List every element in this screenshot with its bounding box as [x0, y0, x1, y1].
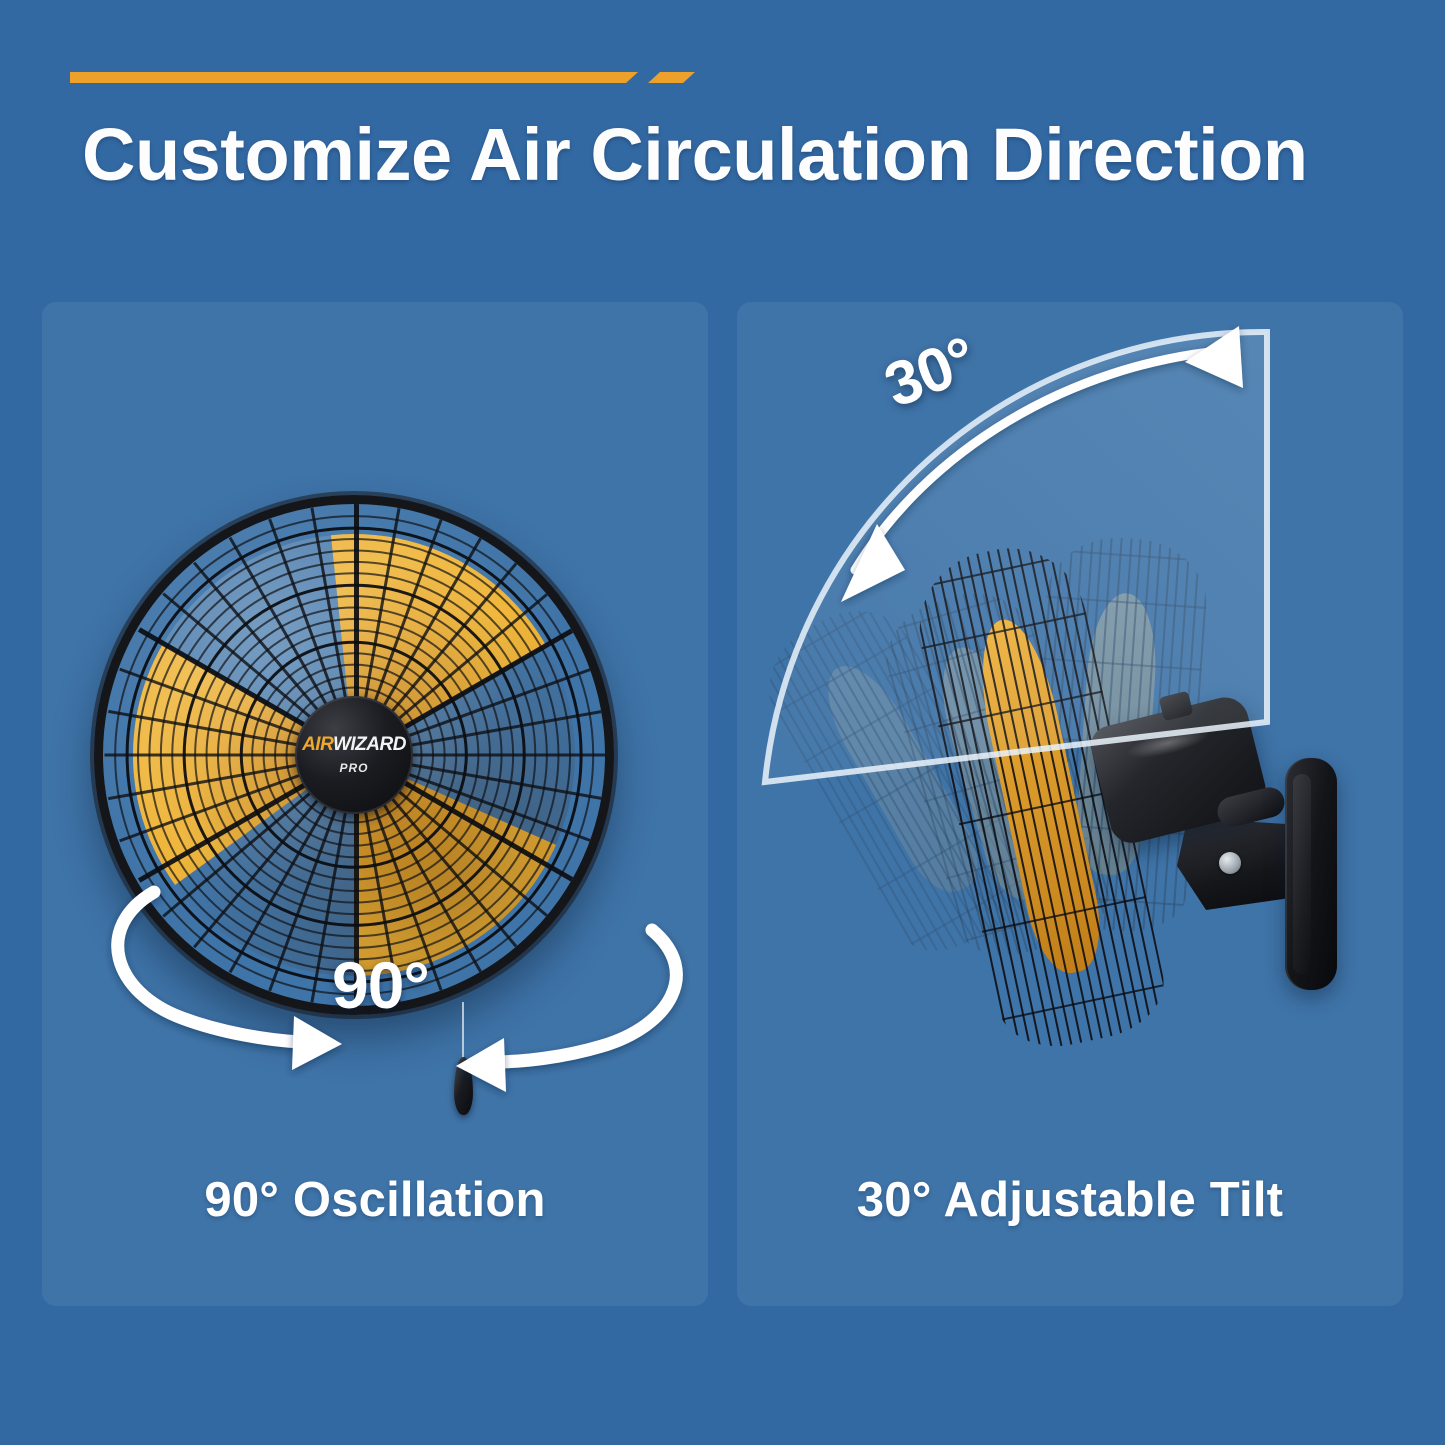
brand-primary: AIR — [302, 734, 333, 755]
pull-chain-cord — [462, 1002, 464, 1064]
page-title: Customize Air Circulation Direction — [82, 118, 1382, 192]
caption-tilt: 30° Adjustable Tilt — [737, 1172, 1403, 1228]
fan-grille-ring-icon: AIRWIZARD PRO — [94, 495, 614, 1015]
wall-mount-plate — [1285, 758, 1337, 990]
angle-label-30: 30° — [875, 323, 985, 422]
motor-and-wall-mount — [1099, 700, 1369, 1020]
angle-label-90: 90° — [332, 947, 429, 1023]
infographic-root: Customize Air Circulation Direction — [0, 0, 1445, 1445]
card-oscillation: AIRWIZARD PRO — [42, 302, 708, 1306]
pull-chain-knob-icon — [454, 1057, 473, 1115]
fan-front-view: AIRWIZARD PRO — [94, 495, 614, 1015]
wall-plate-highlight — [1293, 774, 1311, 974]
accent-bar-short-icon — [648, 72, 695, 83]
accent-rule — [70, 70, 710, 86]
brand-secondary: WIZARD — [333, 734, 406, 755]
fan-hub-logo: AIRWIZARD PRO — [295, 696, 413, 814]
mount-screw-icon — [1219, 852, 1241, 874]
card-tilt: 30° 30° Adjustable Tilt — [737, 302, 1403, 1306]
oscillation-illustration: AIRWIZARD PRO — [42, 302, 708, 1162]
accent-bar-long-icon — [70, 72, 638, 83]
tilt-illustration: 30° — [737, 302, 1403, 1162]
tilt-fan-scene: 30° — [737, 302, 1403, 1162]
brand-wordmark: AIRWIZARD — [302, 735, 406, 754]
caption-oscillation: 90° Oscillation — [42, 1172, 708, 1228]
brand-sub: PRO — [339, 761, 368, 775]
pull-chain — [450, 1002, 476, 1118]
